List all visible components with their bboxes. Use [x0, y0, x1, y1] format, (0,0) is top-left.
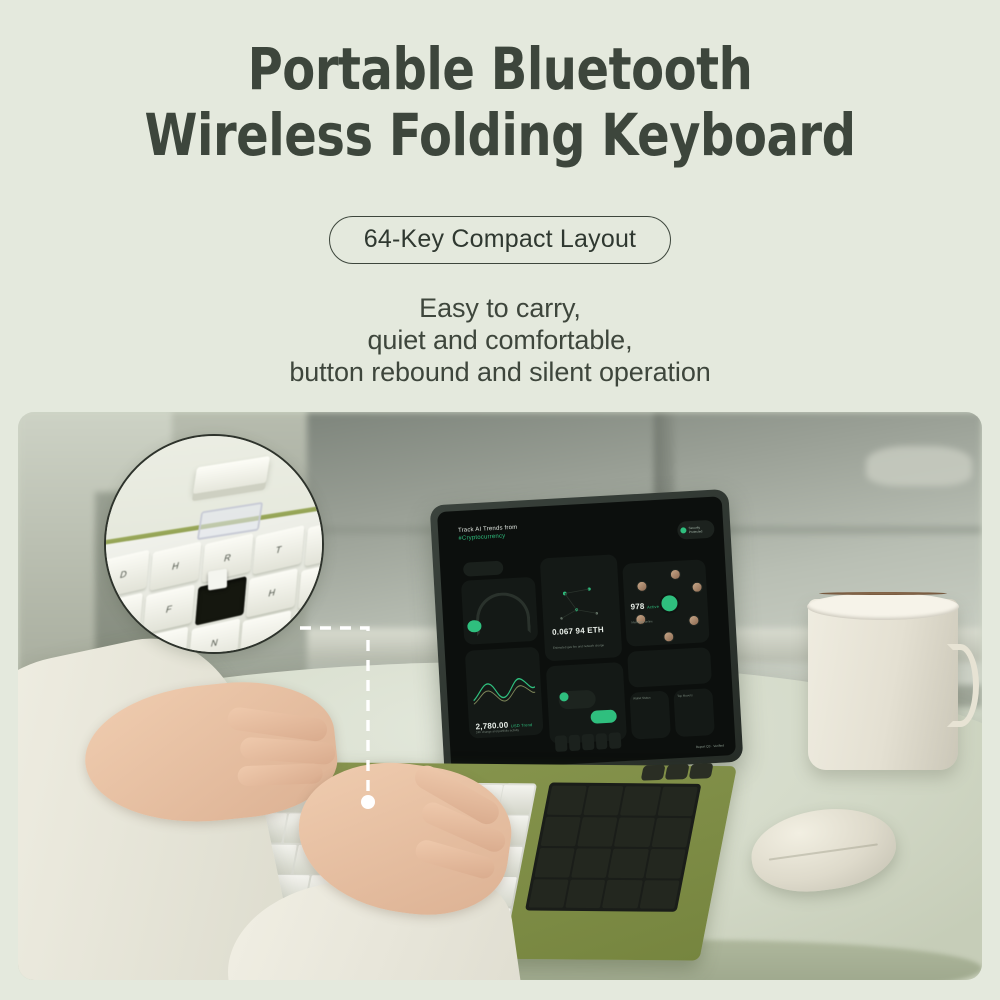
subtitle-block: Easy to carry, quiet and comfortable, bu…	[0, 292, 1000, 388]
balance-unit: USD Trend	[511, 722, 533, 728]
keycap-detail-inset: D H R T S V F H B N	[104, 434, 324, 654]
sparkline-chart	[472, 671, 536, 710]
quick-action-5[interactable]	[609, 733, 621, 749]
quick-action-4[interactable]	[596, 733, 608, 749]
toggle-knob	[560, 692, 569, 701]
report-label: Report Q3 · Verified	[696, 744, 724, 750]
quick-action-row[interactable]	[555, 733, 621, 752]
members-card[interactable]	[628, 647, 712, 688]
avatar	[637, 581, 649, 593]
inset-key: D	[104, 549, 149, 598]
avatar	[689, 615, 701, 627]
balance-note: 24h change and portfolio activity	[476, 728, 519, 734]
dashboard-title: Track AI Trends from #Cryptocurrency	[458, 523, 518, 542]
inset-key: V	[104, 592, 143, 641]
crypto-dashboard: Track AI Trends from #Cryptocurrency Sec…	[437, 496, 736, 770]
dashboard-filter-pill[interactable]	[463, 560, 504, 576]
mug-rim	[807, 593, 959, 620]
pairing-switch-2[interactable]	[665, 764, 690, 780]
security-status-chip[interactable]: Security Protected	[678, 520, 716, 540]
inset-key: F	[143, 584, 195, 633]
tablet-screen[interactable]: Track AI Trends from #Cryptocurrency Sec…	[437, 496, 736, 770]
quick-action-3[interactable]	[582, 734, 594, 750]
quick-action-1[interactable]	[555, 736, 567, 752]
top-movers-label: Top Movers	[677, 693, 693, 698]
title-line-2: Wireless Folding Keyboard	[40, 102, 960, 168]
gauge-card[interactable]	[461, 577, 539, 646]
status-badge: 64-Key Compact Layout	[329, 216, 671, 264]
inset-key: H	[247, 567, 299, 616]
subtitle-line-1: Easy to carry,	[0, 292, 1000, 324]
tablet-body: Track AI Trends from #Cryptocurrency Sec…	[430, 489, 744, 778]
wallet-status-label: Wallet Status	[633, 696, 651, 701]
members-value: 978 Active	[631, 601, 660, 612]
background-car	[866, 446, 972, 486]
mouse-seam	[769, 843, 878, 860]
wallet-status-card[interactable]: Wallet Status	[630, 691, 671, 740]
coffee-mug	[808, 599, 957, 769]
product-marketing-page: Portable Bluetooth Wireless Folding Keyb…	[0, 0, 1000, 1000]
top-movers-card[interactable]: Top Movers	[674, 689, 715, 738]
balance-card[interactable]: 2,780.00 USD Trend 24h change and portfo…	[465, 647, 544, 739]
avatar	[669, 569, 681, 581]
pairing-switch-1[interactable]	[641, 765, 666, 781]
coffee-surface	[819, 592, 947, 595]
avatar	[692, 581, 704, 593]
gauge-arc	[475, 591, 531, 636]
avatar	[659, 592, 680, 613]
badge-container: 64-Key Compact Layout	[0, 216, 1000, 264]
shield-icon	[681, 528, 687, 534]
keyboard-pairing-switches[interactable]	[641, 763, 714, 781]
avatar	[663, 631, 675, 643]
members-unit: Active	[647, 604, 659, 610]
pairing-switch-3[interactable]	[689, 763, 714, 779]
subtitle-line-3: button rebound and silent operation	[0, 356, 1000, 388]
inset-key	[292, 602, 324, 651]
confirm-button[interactable]	[591, 710, 617, 724]
title-line-1: Portable Bluetooth	[248, 35, 753, 103]
inset-key	[298, 559, 324, 608]
page-title: Portable Bluetooth Wireless Folding Keyb…	[40, 36, 960, 168]
subtitle-line-2: quiet and comfortable,	[0, 324, 1000, 356]
security-chip-line-2: Protected	[689, 530, 703, 535]
inset-contents: D H R T S V F H B N	[106, 436, 322, 652]
tablet-on-kickstand: Track AI Trends from #Cryptocurrency Sec…	[430, 489, 744, 778]
quick-action-2[interactable]	[569, 735, 581, 751]
numeric-keypad[interactable]	[525, 783, 701, 913]
key-plunger	[208, 568, 227, 591]
